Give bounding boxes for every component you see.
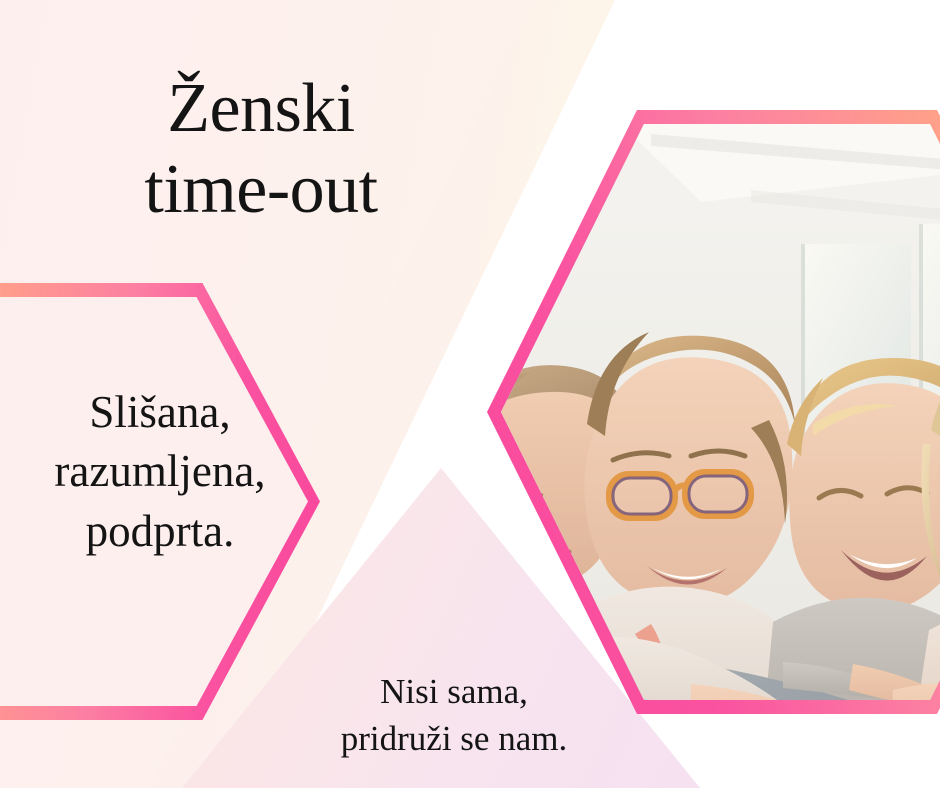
bottom-call-to-action-line-2: pridruži se nam. bbox=[268, 715, 640, 762]
page-title-line-2: time-out bbox=[66, 149, 456, 230]
poster-canvas: Ženski time-out Slišana, razumljena, pod… bbox=[0, 0, 940, 788]
hexagon-tagline-line-1: Slišana, bbox=[0, 383, 320, 442]
bottom-call-to-action-line-1: Nisi sama, bbox=[268, 668, 640, 715]
hexagon-tagline-line-3: podprta. bbox=[0, 502, 320, 561]
page-title: Ženski time-out bbox=[66, 68, 456, 230]
bottom-call-to-action: Nisi sama, pridruži se nam. bbox=[268, 668, 640, 763]
hexagon-tagline-line-2: razumljena, bbox=[0, 442, 320, 501]
hexagon-tagline: Slišana, razumljena, podprta. bbox=[0, 383, 320, 561]
page-title-line-1: Ženski bbox=[66, 68, 456, 149]
